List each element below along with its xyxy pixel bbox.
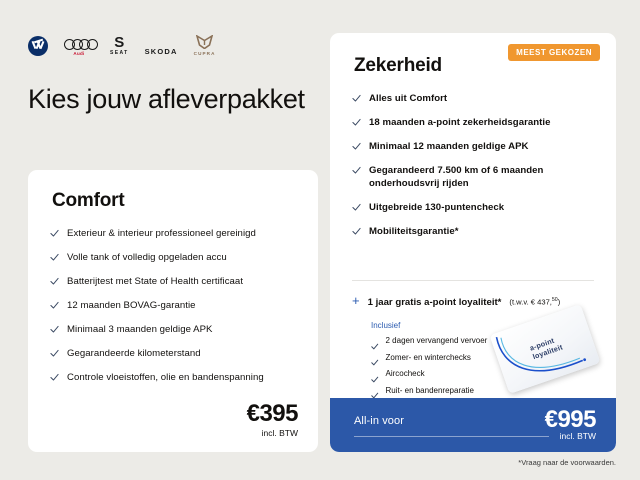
zekerheid-feature-list: Alles uit Comfort 18 maanden a-point zek…: [352, 92, 602, 249]
check-icon: [50, 373, 59, 382]
loyalty-value: (t.w.v. € 437,50): [509, 297, 560, 307]
list-item: Minimaal 12 maanden geldige APK: [352, 140, 602, 153]
list-item: Minimaal 3 maanden geldige APK: [50, 323, 305, 336]
list-item-label: Controle vloeistoffen, olie en bandenspa…: [67, 371, 264, 384]
plus-icon: +: [352, 295, 360, 306]
list-item: Gegarandeerde kilometerstand: [50, 347, 305, 360]
zekerheid-vat-note: incl. BTW: [560, 431, 596, 441]
zekerheid-price-bar: All-in voor €995 incl. BTW: [330, 398, 616, 452]
list-item-label: Zomer- en winterchecks: [386, 353, 471, 363]
package-card-zekerheid[interactable]: MEEST GEKOZEN Zekerheid Alles uit Comfor…: [330, 33, 616, 452]
skoda-wordmark: SKODA: [145, 47, 178, 56]
package-card-comfort[interactable]: Comfort Exterieur & interieur profession…: [28, 170, 318, 452]
check-icon: [371, 354, 379, 362]
check-icon: [352, 142, 361, 151]
check-icon: [352, 118, 361, 127]
loyalty-value-suffix: ): [558, 298, 561, 307]
check-icon: [50, 253, 59, 262]
check-icon: [352, 166, 361, 175]
list-item: Exterieur & interieur professioneel gere…: [50, 227, 305, 240]
list-item-label: Alles uit Comfort: [369, 92, 447, 105]
brand-audi: Audi: [64, 39, 94, 56]
list-item-label: Volle tank of volledig opgeladen accu: [67, 251, 227, 264]
list-item: Volle tank of volledig opgeladen accu: [50, 251, 305, 264]
volkswagen-logo-icon: [28, 36, 48, 56]
list-item-label: Aircocheck: [386, 369, 425, 379]
list-item-label: Gegarandeerde kilometerstand: [67, 347, 201, 360]
price-rule: [354, 436, 549, 437]
comfort-vat-note: incl. BTW: [247, 428, 298, 438]
list-item: Uitgebreide 130-puntencheck: [352, 201, 602, 214]
check-icon: [50, 349, 59, 358]
loyalty-headline-row: + 1 jaar gratis a-point loyaliteit* (t.w…: [352, 295, 560, 308]
list-item-label: 12 maanden BOVAG-garantie: [67, 299, 196, 312]
list-item: Mobiliteitsgarantie*: [352, 225, 602, 238]
audi-wordmark: Audi: [73, 51, 84, 56]
delivery-package-page: Audi S SEAT SKODA CUPRA Kies jouw afleve…: [0, 0, 640, 480]
page-title: Kies jouw afleverpakket: [28, 83, 305, 116]
list-item-label: Mobiliteitsgarantie*: [369, 225, 459, 238]
comfort-price-block: €395 incl. BTW: [247, 401, 298, 438]
comfort-title: Comfort: [52, 190, 124, 212]
zekerheid-price: €995: [545, 406, 596, 434]
cupra-logo-icon: [196, 35, 213, 49]
check-icon: [50, 229, 59, 238]
comfort-price: €395: [247, 401, 298, 427]
seat-logo-icon: S: [114, 36, 124, 49]
footnote: *Vraag naar de voorwaarden.: [518, 458, 616, 467]
list-item-label: 18 maanden a-point zekerheidsgarantie: [369, 116, 551, 129]
list-item-label: Exterieur & interieur professioneel gere…: [67, 227, 256, 240]
list-item: 12 maanden BOVAG-garantie: [50, 299, 305, 312]
check-icon: [371, 337, 379, 345]
check-icon: [50, 325, 59, 334]
brand-logo-strip: Audi S SEAT SKODA CUPRA: [28, 30, 216, 56]
included-label: Inclusief: [371, 321, 400, 330]
check-icon: [352, 203, 361, 212]
list-item-label: 2 dagen vervangend vervoer: [386, 336, 488, 346]
list-item-label: Minimaal 3 maanden geldige APK: [67, 323, 213, 336]
check-icon: [50, 301, 59, 310]
zekerheid-title: Zekerheid: [354, 55, 442, 77]
brand-skoda: SKODA: [145, 47, 178, 56]
loyalty-title: 1 jaar gratis a-point loyaliteit*: [368, 297, 502, 308]
section-divider: [352, 280, 594, 281]
check-icon: [371, 370, 379, 378]
check-icon: [371, 387, 379, 395]
status-badge: MEEST GEKOZEN: [508, 44, 600, 61]
loyalty-value-prefix: (t.w.v. € 437,: [509, 298, 552, 307]
brand-cupra: CUPRA: [194, 35, 216, 56]
list-item-label: Gegarandeerd 7.500 km of 6 maanden onder…: [369, 164, 602, 190]
list-item-label: Batterijtest met State of Health certifi…: [67, 275, 243, 288]
list-item-label: Ruit- en bandenreparatie: [386, 386, 475, 396]
audi-rings-icon: [64, 39, 94, 50]
list-item: Batterijtest met State of Health certifi…: [50, 275, 305, 288]
brand-volkswagen: [28, 36, 48, 56]
comfort-feature-list: Exterieur & interieur professioneel gere…: [50, 227, 305, 395]
list-item: Gegarandeerd 7.500 km of 6 maanden onder…: [352, 164, 602, 190]
list-item: Controle vloeistoffen, olie en bandenspa…: [50, 371, 305, 384]
list-item: Alles uit Comfort: [352, 92, 602, 105]
check-icon: [352, 94, 361, 103]
check-icon: [352, 227, 361, 236]
list-item: 18 maanden a-point zekerheidsgarantie: [352, 116, 602, 129]
list-item-label: Minimaal 12 maanden geldige APK: [369, 140, 529, 153]
price-label: All-in voor: [354, 415, 404, 427]
brand-seat: S SEAT: [110, 36, 129, 56]
seat-wordmark: SEAT: [110, 50, 129, 56]
check-icon: [50, 277, 59, 286]
list-item-label: Uitgebreide 130-puntencheck: [369, 201, 504, 214]
cupra-wordmark: CUPRA: [194, 51, 216, 56]
